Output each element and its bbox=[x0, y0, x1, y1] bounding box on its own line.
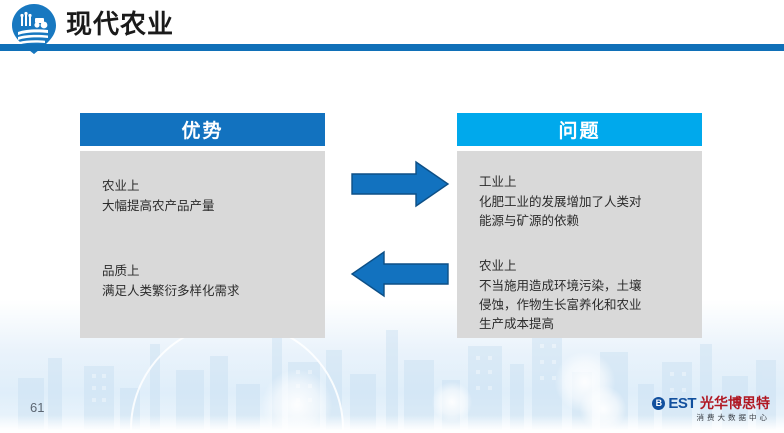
block-line: 满足人类繁衍多样化需求 bbox=[102, 282, 307, 301]
arrow-right-icon bbox=[350, 160, 450, 208]
advantages-block-quality: 品质上 满足人类繁衍多样化需求 bbox=[102, 262, 307, 301]
problems-panel-heading: 问题 bbox=[457, 113, 702, 146]
advantages-block-agriculture: 农业上 大幅提高农产品产量 bbox=[102, 177, 307, 216]
logo-text-en: EST bbox=[668, 396, 696, 411]
block-line: 大幅提高农产品产量 bbox=[102, 197, 307, 216]
page-title: 现代农业 bbox=[66, 8, 174, 40]
company-logo-wordmark: B EST 光华博思特 bbox=[652, 396, 770, 411]
block-title: 农业上 bbox=[479, 257, 684, 276]
page-number: 61 bbox=[30, 400, 44, 415]
block-title: 工业上 bbox=[479, 173, 684, 192]
advantages-panel-body: 农业上 大幅提高农产品产量 品质上 满足人类繁衍多样化需求 bbox=[80, 151, 325, 338]
logo-subtitle: 消费大数据中心 bbox=[652, 414, 770, 422]
company-logo: B EST 光华博思特 消费大数据中心 bbox=[652, 396, 770, 422]
block-line: 侵蚀，作物生长富养化和农业 bbox=[479, 296, 684, 315]
slide: 现代农业 优势 农业上 大幅提高农产品产量 品质上 满足人类繁衍多样化需求 问题… bbox=[0, 0, 784, 433]
arrow-left-icon bbox=[350, 250, 450, 298]
block-line: 能源与矿源的依赖 bbox=[479, 212, 684, 231]
slide-header: 现代农业 bbox=[0, 0, 784, 52]
block-line: 不当施用造成环境污染，土壤 bbox=[479, 277, 684, 296]
advantages-panel-heading: 优势 bbox=[80, 113, 325, 146]
problems-block-agriculture: 农业上 不当施用造成环境污染，土壤 侵蚀，作物生长富养化和农业 生产成本提高 bbox=[479, 257, 684, 334]
block-title: 品质上 bbox=[102, 262, 307, 281]
logo-text-cn: 光华博思特 bbox=[700, 396, 770, 410]
problems-panel-body: 工业上 化肥工业的发展增加了人类对 能源与矿源的依赖 农业上 不当施用造成环境污… bbox=[457, 151, 702, 338]
block-line: 化肥工业的发展增加了人类对 bbox=[479, 193, 684, 212]
block-title: 农业上 bbox=[102, 177, 307, 196]
block-line: 生产成本提高 bbox=[479, 315, 684, 334]
problems-block-industry: 工业上 化肥工业的发展增加了人类对 能源与矿源的依赖 bbox=[479, 173, 684, 231]
logo-badge-icon: B bbox=[652, 397, 665, 410]
header-divider-rule bbox=[0, 44, 784, 51]
